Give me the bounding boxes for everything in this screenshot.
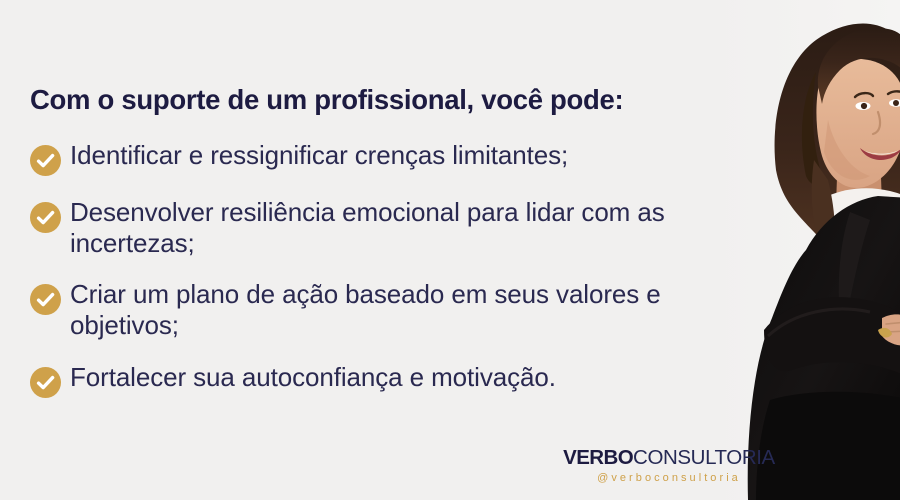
list-item: Desenvolver resiliência emocional para l… xyxy=(30,197,690,258)
social-handle: @verboconsultoria xyxy=(563,472,775,484)
check-circle-icon xyxy=(30,284,61,315)
consultant-photo xyxy=(710,0,900,500)
check-circle-icon xyxy=(30,145,61,176)
list-item-label: Desenvolver resiliência emocional para l… xyxy=(70,197,670,258)
list-item: Identificar e ressignificar crenças limi… xyxy=(30,140,690,176)
brand-logo: VERBOCONSULTORIA @verboconsultoria xyxy=(563,448,775,484)
benefits-list: Identificar e ressignificar crenças limi… xyxy=(30,140,690,419)
list-item-label: Identificar e ressignificar crenças limi… xyxy=(70,140,568,171)
logo-brand-light: CONSULTORIA xyxy=(633,446,775,469)
logo-brand-bold: VERBO xyxy=(563,446,633,469)
logo-wordmark: VERBOCONSULTORIA xyxy=(563,448,775,469)
check-circle-icon xyxy=(30,367,61,398)
page-title: Com o suporte de um profissional, você p… xyxy=(30,84,690,116)
list-item-label: Criar um plano de ação baseado em seus v… xyxy=(70,279,670,340)
list-item-label: Fortalecer sua autoconfiança e motivação… xyxy=(70,362,556,393)
check-circle-icon xyxy=(30,202,61,233)
list-item: Criar um plano de ação baseado em seus v… xyxy=(30,279,690,340)
list-item: Fortalecer sua autoconfiança e motivação… xyxy=(30,362,690,398)
slide-canvas: Com o suporte de um profissional, você p… xyxy=(0,0,900,500)
